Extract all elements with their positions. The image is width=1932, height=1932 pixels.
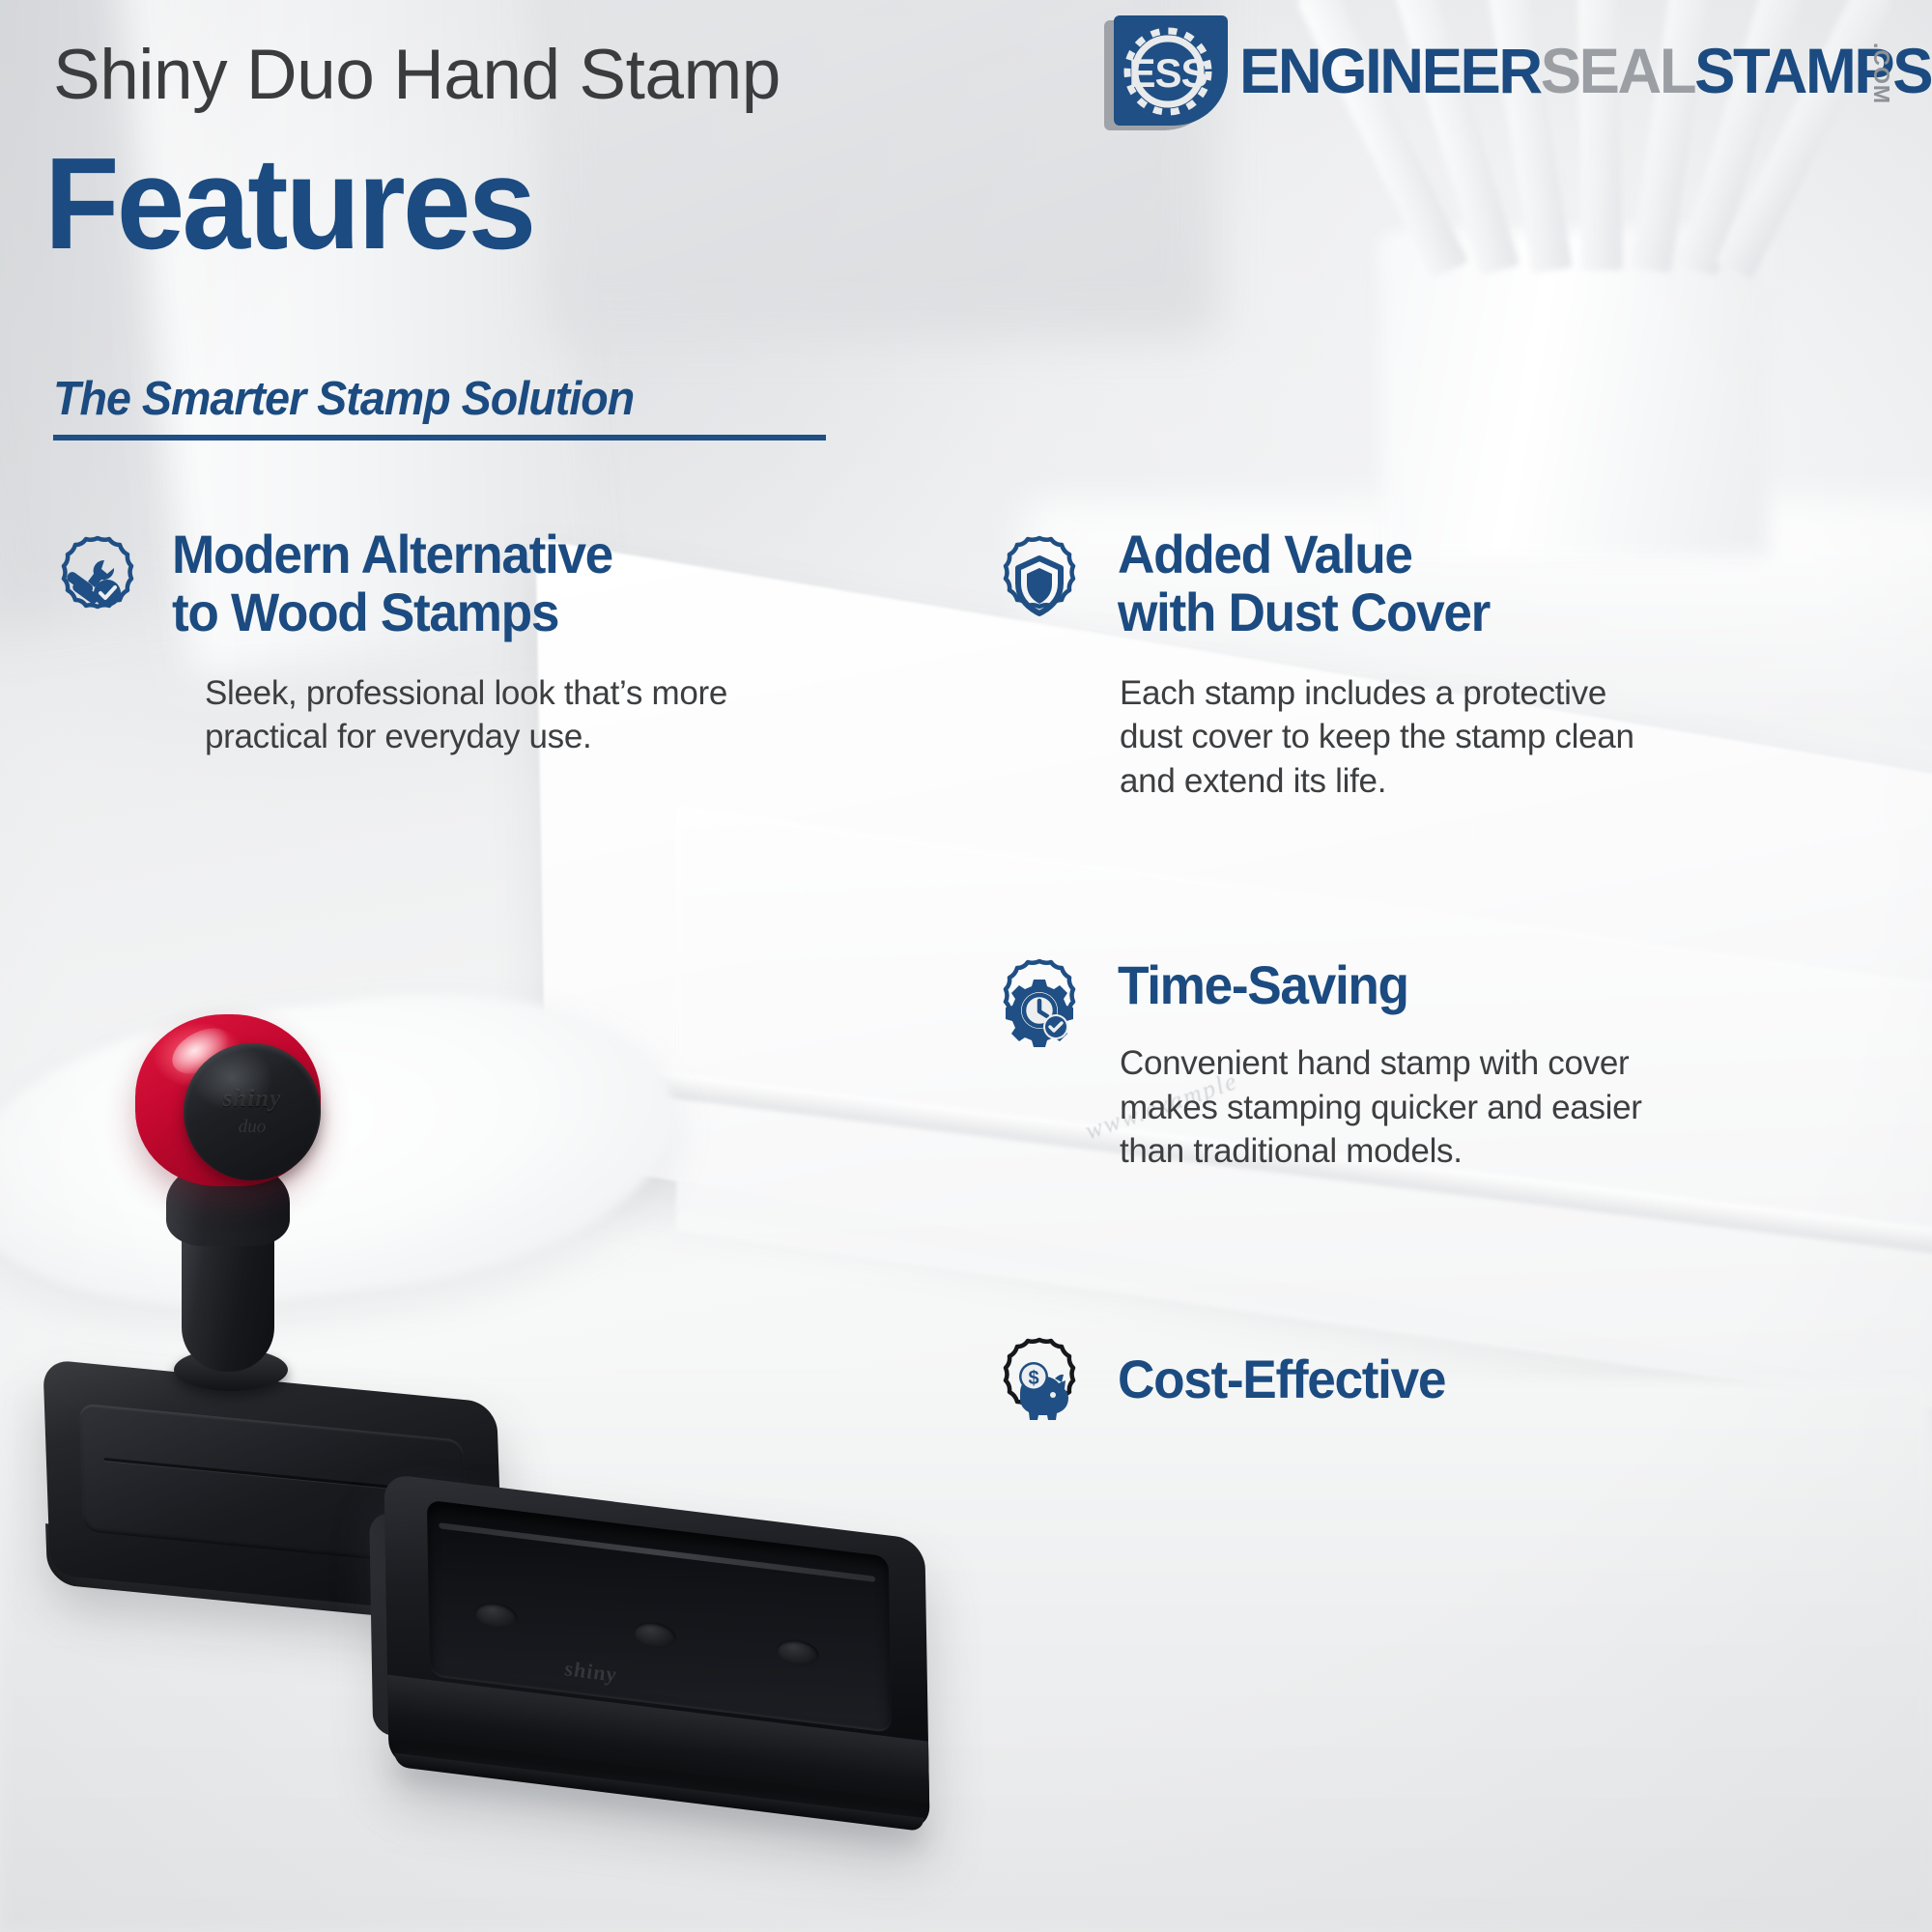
feature-title: Cost-Effective: [1118, 1350, 1870, 1408]
brand-logo[interactable]: ESS ENGINEERSEALSTAMPS .COM: [1104, 14, 1920, 131]
feature-text-block: Time-Saving Convenient hand stamp with c…: [1118, 956, 1910, 1174]
ess-shield-icon: ESS: [1104, 14, 1230, 131]
page-title: Features: [44, 143, 533, 266]
knob-model-text: duo: [184, 1117, 321, 1138]
feature-title: Added Value with Dust Cover: [1118, 526, 1870, 642]
tagline-underline: [53, 435, 826, 440]
tagline: The Smarter Stamp Solution: [53, 372, 787, 426]
feature-title: Time-Saving: [1118, 956, 1870, 1014]
wordmark-engineer: ENGINEER: [1239, 35, 1541, 106]
subtitle-block: The Smarter Stamp Solution: [53, 372, 826, 440]
knob-brand-text: shiny: [184, 1086, 321, 1113]
feature-text-block: Added Value with Dust Cover Each stamp i…: [1118, 526, 1910, 803]
feature-body: Convenient hand stamp with cover makes s…: [1120, 1041, 1910, 1174]
feature-text-block: Cost-Effective: [1118, 1350, 1910, 1408]
feature-body: Sleek, professional look that’s more pra…: [205, 671, 887, 759]
wordmark-tld: .COM: [1868, 43, 1894, 104]
brand-wordmark: ENGINEERSEALSTAMPS: [1239, 39, 1931, 102]
stamp-knob-cap: shiny duo: [184, 1043, 321, 1180]
dust-cover-body: shiny: [384, 1473, 929, 1831]
product-photo-hand-stamp: shiny duo shiny: [0, 869, 1063, 1932]
feature-text-block: Modern Alternative to Wood Stamps Sleek,…: [172, 526, 887, 759]
feature-title: Modern Alternative to Wood Stamps: [172, 526, 851, 642]
stamp-wrench-check-badge-icon: [43, 533, 152, 641]
shield-badge-icon: [985, 533, 1094, 641]
feature-body: Each stamp includes a protective dust co…: [1120, 671, 1910, 804]
dust-cover: shiny: [384, 1473, 929, 1831]
svg-text:ESS: ESS: [1128, 50, 1207, 96]
product-name-kicker: Shiny Duo Hand Stamp: [53, 35, 781, 115]
wordmark-seal: SEAL: [1541, 35, 1694, 106]
wordmark-stamps: STAMPS: [1694, 35, 1931, 106]
